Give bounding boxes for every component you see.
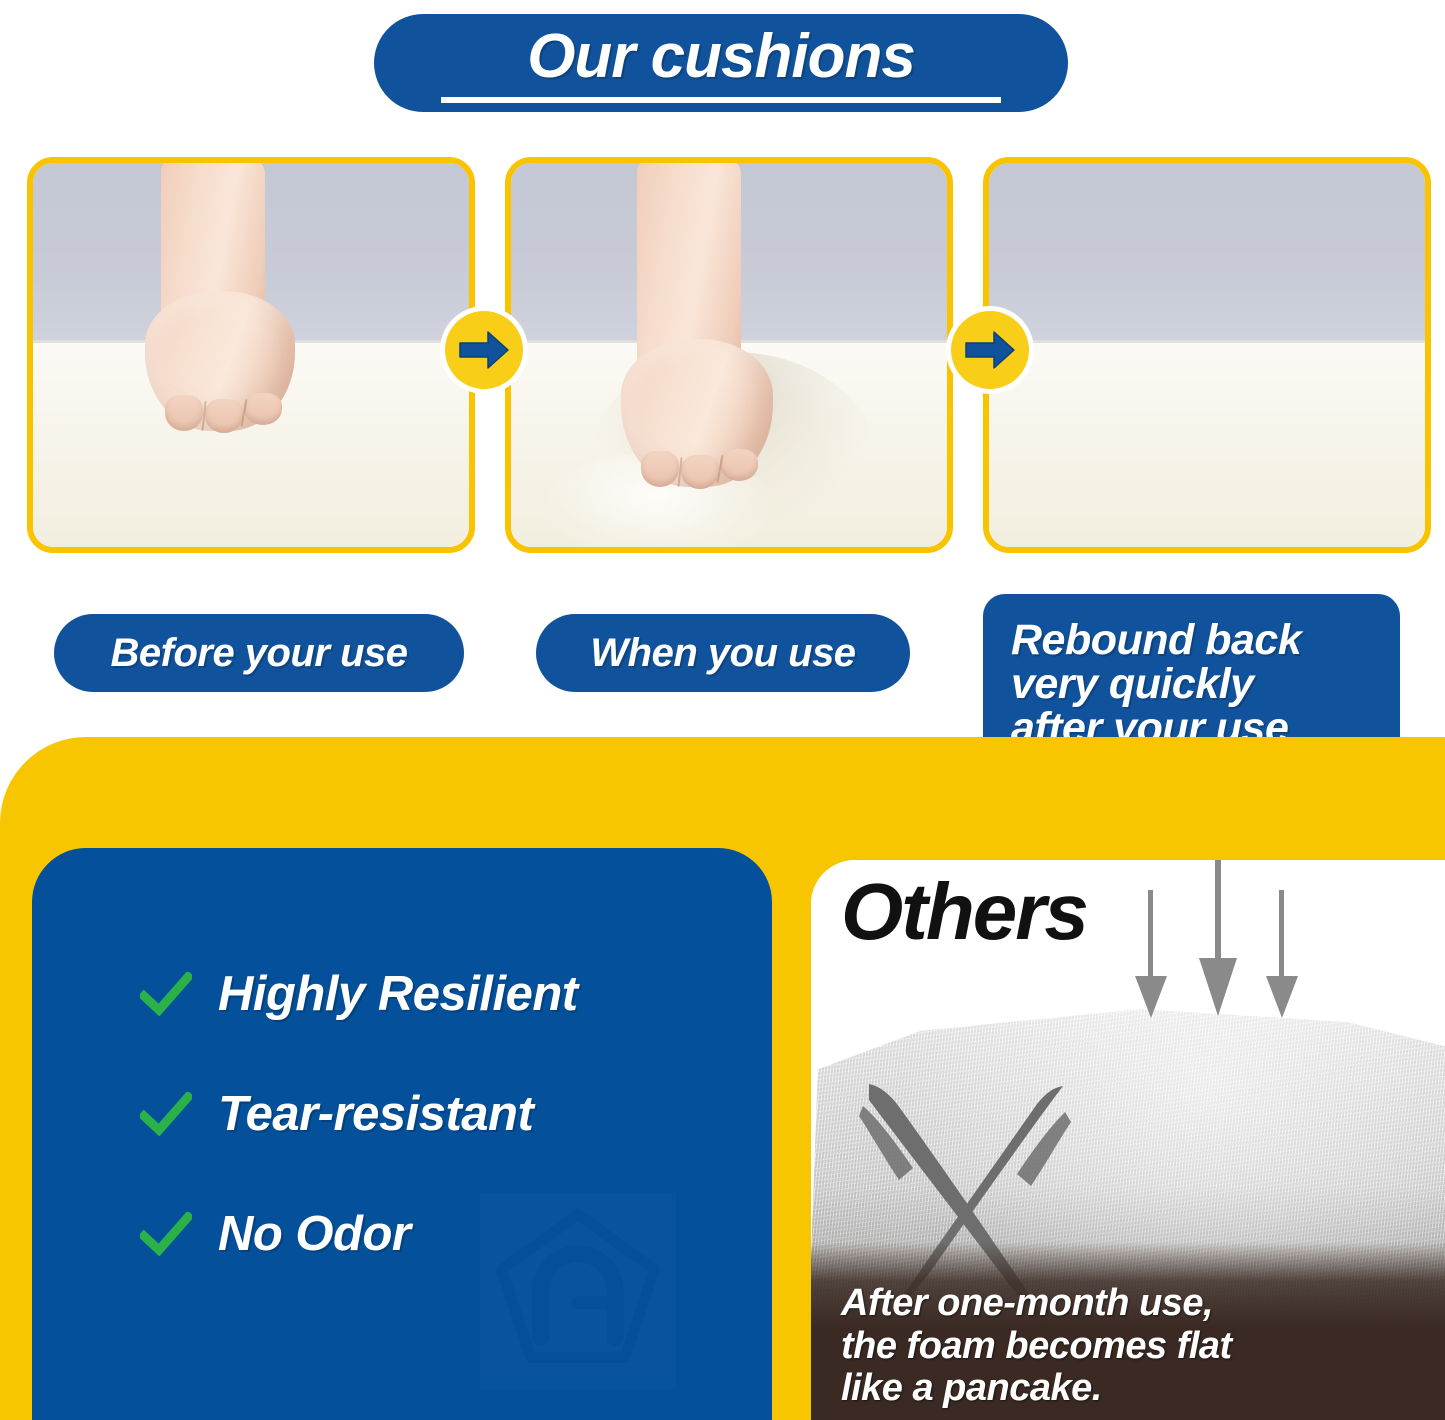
feature-label: No Odor	[218, 1206, 410, 1262]
arrow-right-icon	[964, 330, 1016, 370]
feature-label: Tear-resistant	[218, 1086, 533, 1142]
feature-item: Highly Resilient	[140, 934, 760, 1054]
check-icon	[140, 1092, 192, 1136]
step-arrow-2	[946, 306, 1034, 394]
step-photo-after-rebound	[983, 157, 1431, 553]
feature-item: No Odor	[140, 1174, 760, 1294]
down-arrow-icon	[1264, 890, 1300, 1020]
infographic-page: Our cushions	[0, 0, 1445, 1420]
caption-line: Before your use	[110, 631, 407, 676]
knuckle	[681, 455, 719, 489]
knuckle	[641, 451, 679, 487]
caption-line: like a pancake.	[841, 1367, 1232, 1410]
foam-top-edge	[989, 340, 1425, 343]
caption-line: very quickly	[1011, 662, 1254, 706]
caption-before-your-use: Before your use	[54, 614, 464, 692]
down-arrow-icon	[1196, 860, 1240, 1020]
caption-line: When you use	[590, 631, 855, 676]
down-arrow-icon	[1133, 890, 1169, 1020]
check-icon	[140, 972, 192, 1016]
others-title: Others	[841, 872, 1087, 952]
step-photo-when-using	[505, 157, 953, 553]
knuckle	[244, 393, 282, 425]
caption-when-you-use: When you use	[536, 614, 910, 692]
photo-background-wall	[989, 163, 1425, 340]
caption-line: the foam becomes flat	[841, 1325, 1232, 1368]
step-arrow-1	[440, 306, 528, 394]
feature-label: Highly Resilient	[218, 966, 578, 1022]
page-title: Our cushions	[527, 26, 915, 88]
caption-line: Rebound back	[1011, 618, 1301, 662]
foam-surface	[989, 340, 1425, 547]
feature-list: Highly Resilient Tear-resistant No Odor	[140, 934, 760, 1294]
title-underline	[441, 97, 1001, 103]
step-photo-before-use	[27, 157, 475, 553]
page-title-banner: Our cushions	[374, 14, 1068, 112]
caption-line: After one-month use,	[841, 1282, 1232, 1325]
check-icon	[140, 1212, 192, 1256]
others-caption: After one-month use, the foam becomes fl…	[841, 1282, 1232, 1410]
arrow-right-icon	[458, 330, 510, 370]
feature-item: Tear-resistant	[140, 1054, 760, 1174]
knuckle	[165, 395, 203, 431]
knuckle	[720, 449, 758, 481]
knuckle	[205, 399, 243, 433]
others-comparison-panel: Others A	[811, 860, 1445, 1420]
our-cushion-features-panel: Highly Resilient Tear-resistant No Odor	[32, 848, 772, 1420]
